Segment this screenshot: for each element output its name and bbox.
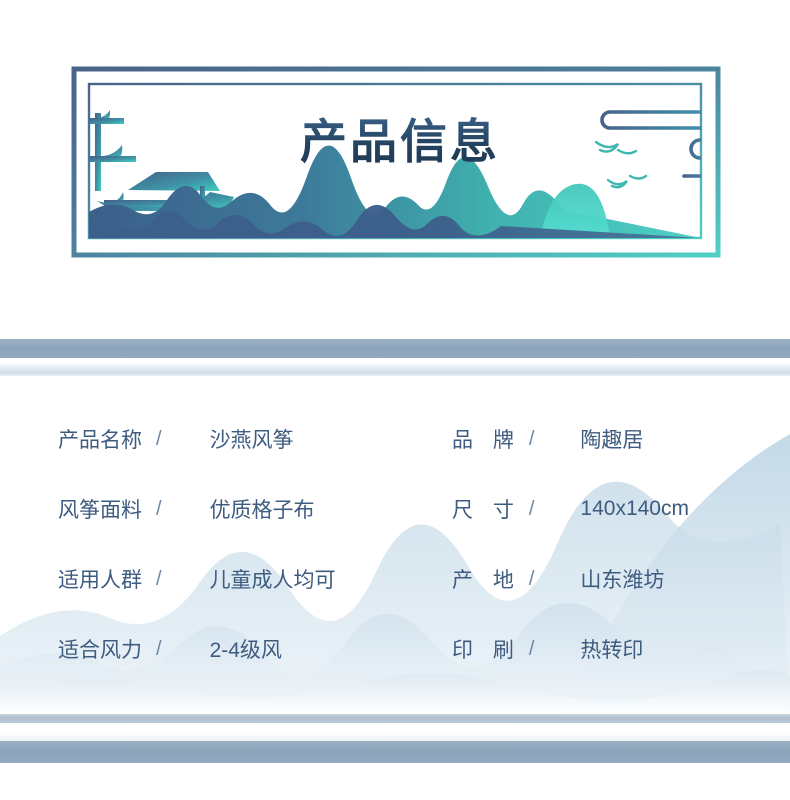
- divider-bottom-white: [0, 723, 790, 741]
- separator-slash: /: [529, 568, 535, 591]
- ruyi-cloud-icon: [602, 112, 790, 176]
- page-title: 产品信息: [300, 112, 530, 174]
- bottom-blank-area: [0, 763, 790, 800]
- info-label: 产品名称: [58, 424, 142, 454]
- info-row-brand: 品 牌 / 陶趣居: [452, 422, 643, 456]
- info-row-kite-fabric: 风筝面料 / 优质格子布: [58, 492, 315, 526]
- separator-slash: /: [156, 428, 162, 451]
- info-value: 优质格子布: [210, 494, 315, 524]
- info-label: 尺 寸: [452, 494, 521, 524]
- info-label: 适合风力: [58, 634, 142, 664]
- info-row-printing: 印 刷 / 热转印: [452, 632, 643, 666]
- info-row-wind-level: 适合风力 / 2-4级风: [58, 632, 282, 666]
- info-value: 140x140cm: [580, 497, 689, 521]
- divider-top-dark: [0, 339, 790, 358]
- separator-slash: /: [529, 638, 535, 661]
- info-label: 产 地: [452, 564, 521, 594]
- banner: 产品信息: [0, 0, 790, 320]
- separator-slash: /: [529, 428, 535, 451]
- cloud-bar-icon: [702, 96, 714, 190]
- info-value: 陶趣居: [580, 424, 643, 454]
- separator-slash: /: [156, 568, 162, 591]
- info-value: 山东潍坊: [580, 564, 664, 594]
- divider-top-light: [0, 363, 790, 376]
- info-label: 适用人群: [58, 564, 142, 594]
- separator-slash: /: [156, 498, 162, 521]
- info-row-size: 尺 寸 / 140x140cm: [452, 492, 689, 526]
- divider-bottom-thin: [0, 714, 790, 723]
- info-label: 风筝面料: [58, 494, 142, 524]
- product-info-section: 产品名称 / 沙燕风筝 风筝面料 / 优质格子布 适用人群 / 儿童成人均可 适…: [0, 376, 790, 714]
- info-value: 沙燕风筝: [210, 424, 294, 454]
- info-value: 2-4级风: [210, 634, 282, 664]
- info-label: 品 牌: [452, 424, 521, 454]
- info-grid: 产品名称 / 沙燕风筝 风筝面料 / 优质格子布 适用人群 / 儿童成人均可 适…: [0, 376, 790, 714]
- info-row-product-name: 产品名称 / 沙燕风筝: [58, 422, 294, 456]
- divider-bottom-dark: [0, 741, 790, 763]
- separator-slash: /: [529, 498, 535, 521]
- bird-icon: [596, 142, 646, 187]
- info-label: 印 刷: [452, 634, 521, 664]
- info-value: 热转印: [580, 634, 643, 664]
- info-value: 儿童成人均可: [210, 564, 336, 594]
- info-row-origin: 产 地 / 山东潍坊: [452, 562, 664, 596]
- separator-slash: /: [156, 638, 162, 661]
- info-row-target-audience: 适用人群 / 儿童成人均可: [58, 562, 336, 596]
- product-info-page: 产品信息: [0, 0, 790, 800]
